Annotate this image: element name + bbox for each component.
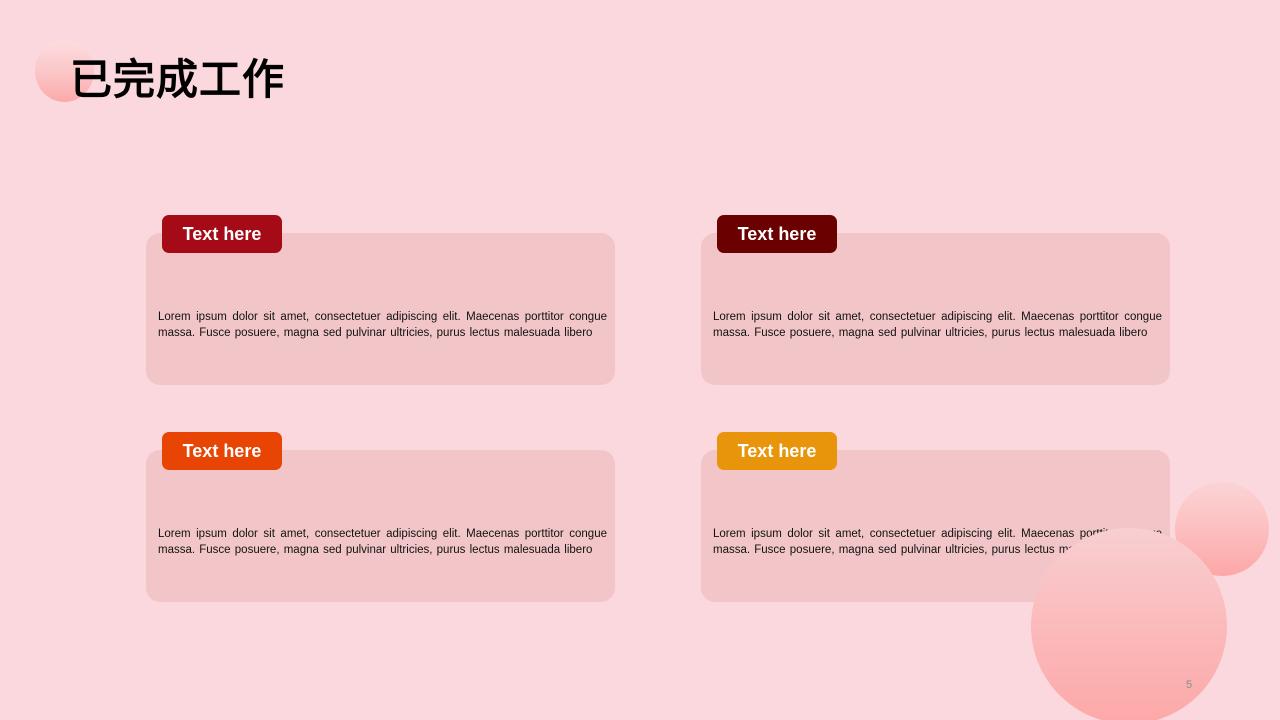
card-4-badge[interactable]: Text here	[717, 432, 837, 470]
card-1-badge[interactable]: Text here	[162, 215, 282, 253]
slide-canvas: 已完成工作 Lorem ipsum dolor sit amet, consec…	[0, 0, 1280, 720]
card-1-body: Lorem ipsum dolor sit amet, consectetuer…	[146, 233, 615, 385]
corner-small-circle-icon	[1175, 482, 1269, 576]
card-3-badge[interactable]: Text here	[162, 432, 282, 470]
card-4-body: Lorem ipsum dolor sit amet, consectetuer…	[701, 450, 1170, 602]
card-2: Lorem ipsum dolor sit amet, consectetuer…	[701, 215, 1170, 385]
slide-number: 5	[1186, 679, 1192, 691]
page-title: 已完成工作	[70, 59, 285, 101]
card-2-badge[interactable]: Text here	[717, 215, 837, 253]
card-4-text: Lorem ipsum dolor sit amet, consectetuer…	[713, 527, 1162, 558]
card-2-text: Lorem ipsum dolor sit amet, consectetuer…	[713, 310, 1162, 341]
page-title-block: 已完成工作	[70, 52, 285, 108]
card-2-body: Lorem ipsum dolor sit amet, consectetuer…	[701, 233, 1170, 385]
card-3-text: Lorem ipsum dolor sit amet, consectetuer…	[158, 527, 607, 558]
card-3: Lorem ipsum dolor sit amet, consectetuer…	[146, 432, 615, 602]
card-1: Lorem ipsum dolor sit amet, consectetuer…	[146, 215, 615, 385]
card-1-text: Lorem ipsum dolor sit amet, consectetuer…	[158, 310, 607, 341]
cards-grid: Lorem ipsum dolor sit amet, consectetuer…	[146, 215, 1170, 605]
card-3-body: Lorem ipsum dolor sit amet, consectetuer…	[146, 450, 615, 602]
card-4: Lorem ipsum dolor sit amet, consectetuer…	[701, 432, 1170, 602]
